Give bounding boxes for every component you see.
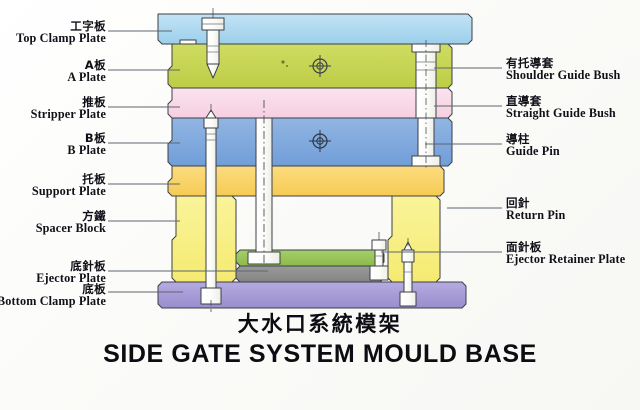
label-guide-pin: 導柱 Guide Pin: [506, 133, 560, 159]
label-top-clamp-plate: 工字板 Top Clamp Plate: [16, 20, 106, 46]
label-bottom-clamp-plate: 底板 Bottom Clamp Plate: [0, 283, 106, 309]
label-a-plate: A板 A Plate: [67, 59, 106, 85]
label-ejector-retainer-plate: 面針板 Ejector Retainer Plate: [506, 241, 625, 267]
label-ejector-retainer-plate-en: Ejector Retainer Plate: [506, 253, 625, 266]
title-block: 大水口系統模架 SIDE GATE SYSTEM MOULD BASE: [0, 312, 640, 369]
label-return-pin-en: Return Pin: [506, 209, 565, 222]
label-straight-guide-bush: 直導套 Straight Guide Bush: [506, 95, 616, 121]
label-stripper-plate: 推板 Stripper Plate: [31, 96, 106, 122]
plate-spacer-block-right: [388, 196, 440, 282]
label-a-plate-en: A Plate: [67, 71, 106, 84]
label-shoulder-guide-bush-en: Shoulder Guide Bush: [506, 69, 620, 82]
label-support-plate: 托板 Support Plate: [32, 173, 106, 199]
label-return-pin: 回針 Return Pin: [506, 197, 565, 223]
label-top-clamp-plate-en: Top Clamp Plate: [16, 32, 106, 45]
label-b-plate-en: B Plate: [67, 144, 106, 157]
label-spacer-block-en: Spacer Block: [36, 222, 106, 235]
label-straight-guide-bush-en: Straight Guide Bush: [506, 107, 616, 120]
page-title-english: SIDE GATE SYSTEM MOULD BASE: [0, 339, 640, 369]
mould-base-diagram-page: 工字板 Top Clamp Plate A板 A Plate 推板 Stripp…: [0, 0, 640, 410]
label-stripper-plate-en: Stripper Plate: [31, 108, 106, 121]
plate-spacer-block-left: [172, 196, 236, 282]
label-shoulder-guide-bush: 有托導套 Shoulder Guide Bush: [506, 57, 620, 83]
label-guide-pin-en: Guide Pin: [506, 145, 560, 158]
label-support-plate-en: Support Plate: [32, 185, 106, 198]
plate-ejector-plate: [236, 266, 384, 282]
label-spacer-block: 方鐵 Spacer Block: [36, 210, 106, 236]
page-title-chinese: 大水口系統模架: [0, 312, 640, 337]
label-bottom-clamp-plate-en: Bottom Clamp Plate: [0, 295, 106, 308]
label-b-plate: B板 B Plate: [67, 132, 106, 158]
